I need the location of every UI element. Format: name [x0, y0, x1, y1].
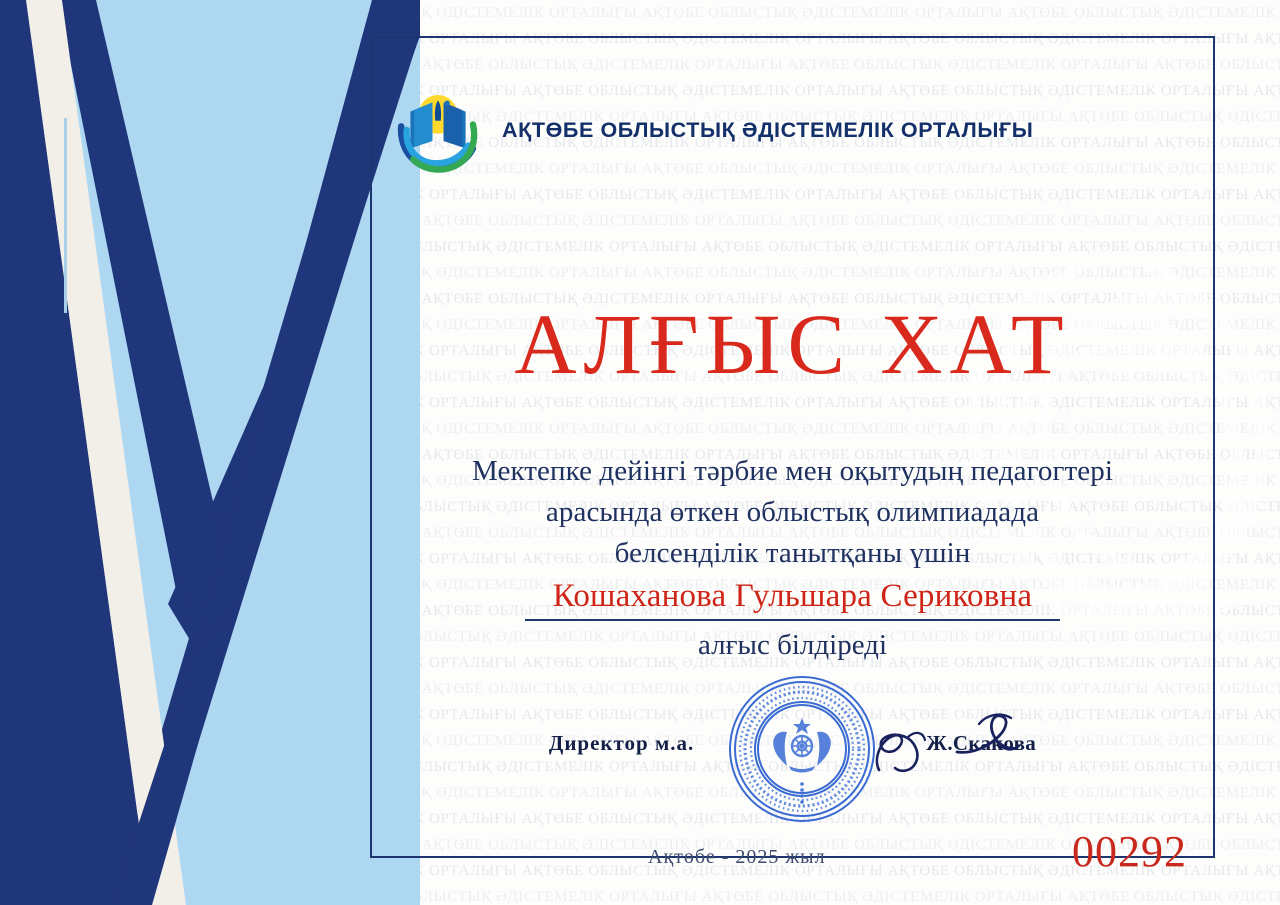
body-line-1: Мектепке дейінгі тәрбие мен оқытудың пед…: [370, 451, 1215, 492]
body-line-3: белсенділік танытқаны үшін: [370, 533, 1215, 574]
organization-name: АҚТӨБЕ ОБЛЫСТЫҚ ӘДІСТЕМЕЛІК ОРТАЛЫҒЫ: [502, 118, 1033, 143]
closing-line: алғыс білдіреді: [370, 625, 1215, 665]
signatory-title: Директор м.а.: [549, 731, 694, 756]
body-line-2: арасында өткен облыстық олимпиадада: [370, 492, 1215, 533]
handwritten-signature-secondary-icon: [953, 708, 1033, 770]
place-and-year: Ақтөбе - 2025 жыл: [648, 846, 826, 869]
official-round-seal-stamp-icon: [727, 674, 877, 824]
open-book-sun-swoosh-logo-icon: [392, 84, 484, 176]
page-title: АЛҒЫС ХАТ: [370, 301, 1215, 387]
serial-number: 00292: [1072, 826, 1187, 877]
certificate-body: Мектепке дейінгі тәрбие мен оқытудың пед…: [370, 451, 1215, 665]
certificate-header: АҚТӨБЕ ОБЛЫСТЫҚ ӘДІСТЕМЕЛІК ОРТАЛЫҒЫ: [392, 84, 1033, 176]
chevron-accent-overlay-icon: [0, 0, 420, 905]
certificate-page: АҚТӨБЕ ОБЛЫСТЫҚ ӘДІСТЕМЕЛІК ОРТАЛЫҒЫ АҚТ…: [0, 0, 1280, 905]
certificate-content: АҚТӨБЕ ОБЛЫСТЫҚ ӘДІСТЕМЕЛІК ОРТАЛЫҒЫ АЛҒ…: [370, 36, 1215, 858]
recipient-name-field: Кошаханова Гульшара Сериковна: [525, 576, 1060, 621]
handwritten-signature-icon: [867, 720, 937, 782]
recipient-name: Кошаханова Гульшара Сериковна: [553, 576, 1032, 616]
